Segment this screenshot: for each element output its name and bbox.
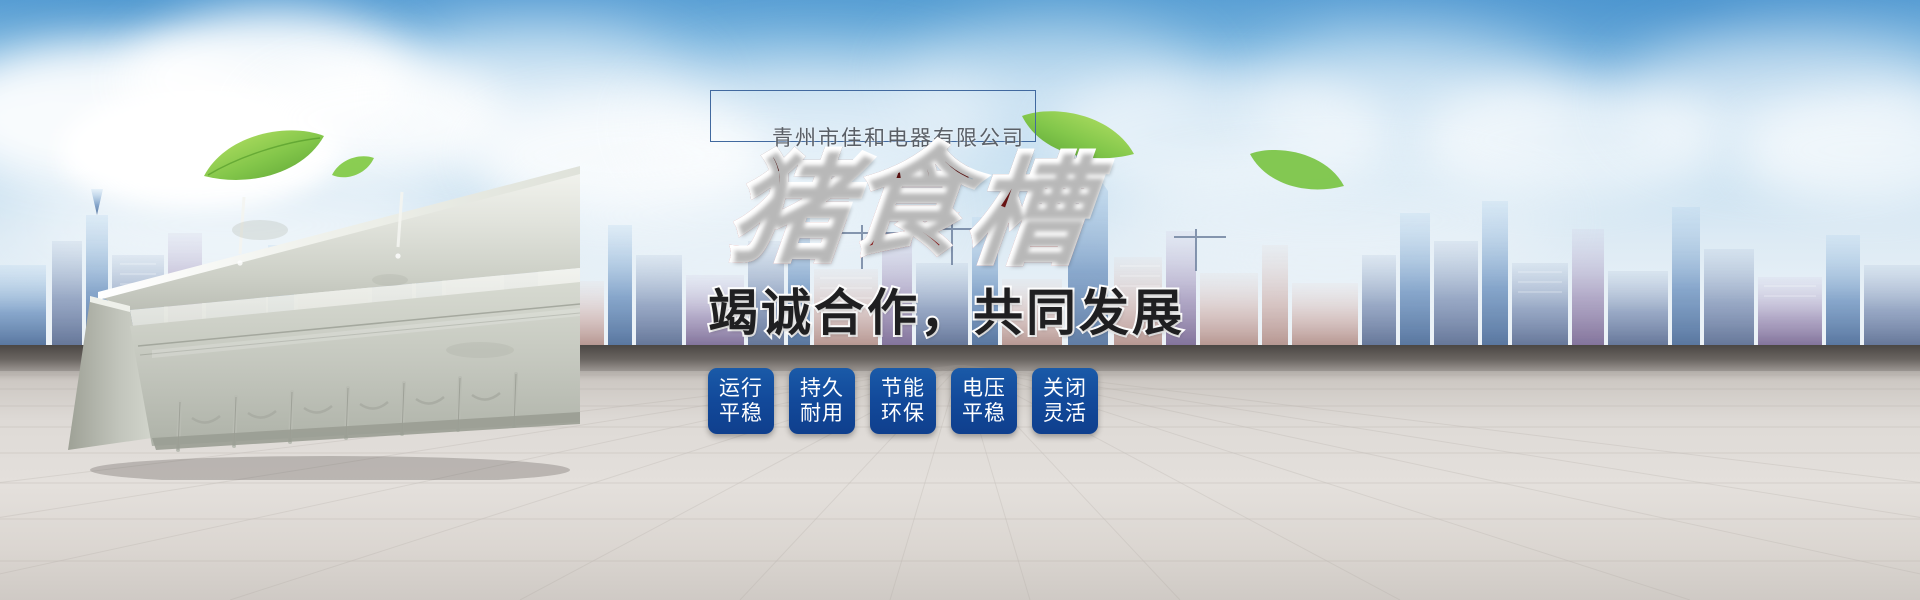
promo-banner: 青州市佳和电器有限公司 猪 食 槽 竭诚合作，共同发展 运行 平稳 持久 耐用 (0, 0, 1920, 600)
badge-line-1: 节能 (881, 376, 925, 401)
badge-line-1: 电压 (962, 376, 1006, 401)
feature-badge-3[interactable]: 节能 环保 (870, 368, 936, 434)
badge-line-2: 环保 (881, 401, 925, 426)
pig-feeder-trough-product-image (60, 150, 580, 480)
badge-line-1: 关闭 (1043, 376, 1087, 401)
main-title: 猪 食 槽 (700, 150, 1260, 280)
feature-badge-4[interactable]: 电压 平稳 (951, 368, 1017, 434)
feature-badge-2[interactable]: 持久 耐用 (789, 368, 855, 434)
subtitle: 竭诚合作，共同发展 (708, 288, 1185, 338)
badge-line-1: 持久 (800, 376, 844, 401)
badge-line-2: 平稳 (719, 401, 763, 426)
badge-line-1: 运行 (719, 376, 763, 401)
title-char-1: 猪 (724, 150, 854, 268)
title-char-2: 食 (842, 142, 972, 260)
badge-line-2: 平稳 (962, 401, 1006, 426)
feature-badge-1[interactable]: 运行 平稳 (708, 368, 774, 434)
badge-line-2: 耐用 (800, 401, 844, 426)
feature-badge-list: 运行 平稳 持久 耐用 节能 环保 电压 平稳 关闭 灵活 (708, 368, 1098, 434)
title-char-3: 槽 (962, 152, 1092, 270)
feature-badge-5[interactable]: 关闭 灵活 (1032, 368, 1098, 434)
green-leaf-icon-left-small (330, 155, 376, 181)
green-leaf-icon-left (200, 128, 330, 188)
banner-text-block: 青州市佳和电器有限公司 猪 食 槽 竭诚合作，共同发展 运行 平稳 持久 耐用 (690, 90, 1290, 490)
badge-line-2: 灵活 (1043, 401, 1087, 426)
